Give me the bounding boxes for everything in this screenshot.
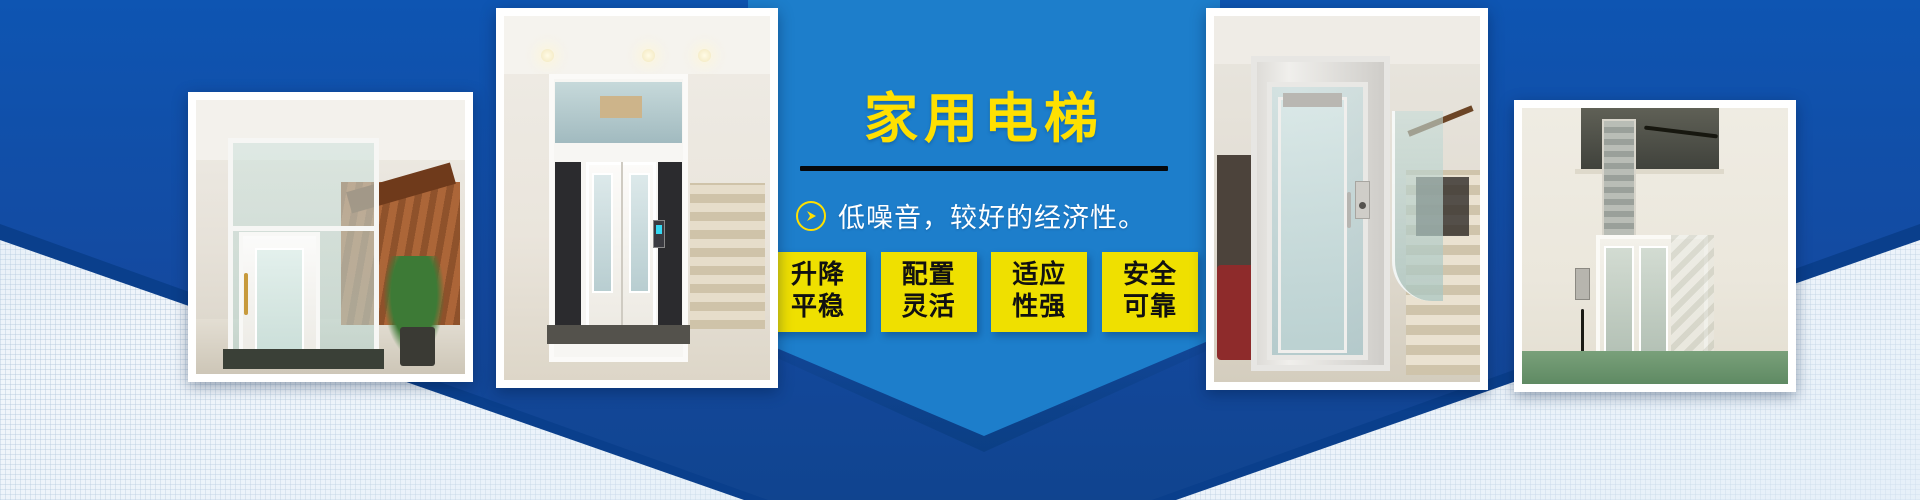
home-elevator-banner: 家用电梯 低噪音，较好的经济性。 升降 平稳 配置 灵活 适应 性强 bbox=[0, 0, 1920, 500]
badge-line-2: 性强 bbox=[1012, 292, 1066, 324]
scene-glass-home-elevator bbox=[196, 100, 465, 374]
badge-line-1: 升降 bbox=[791, 260, 845, 292]
feature-badge-list: 升降 平稳 配置 灵活 适应 性强 安全 可靠 bbox=[770, 252, 1198, 332]
circle-play-arrow-icon bbox=[796, 201, 826, 231]
photo-inner bbox=[1522, 108, 1788, 384]
photo-silver-elevator-with-glass-railing bbox=[1206, 8, 1488, 390]
feature-badge: 适应 性强 bbox=[991, 252, 1087, 332]
badge-line-1: 适应 bbox=[1012, 260, 1066, 292]
photo-inner bbox=[196, 100, 465, 374]
photo-white-sliding-door-elevator-with-stairs bbox=[496, 8, 778, 388]
title-divider bbox=[800, 166, 1168, 171]
subtitle-text: 低噪音，较好的经济性。 bbox=[838, 196, 1146, 235]
badge-line-1: 安全 bbox=[1123, 260, 1177, 292]
photo-elevator-under-installation bbox=[1514, 100, 1796, 392]
scene-silver-elevator bbox=[1214, 16, 1480, 382]
feature-badge: 升降 平稳 bbox=[770, 252, 866, 332]
subtitle-row: 低噪音，较好的经济性。 bbox=[796, 196, 1196, 235]
badge-line-2: 灵活 bbox=[902, 292, 956, 324]
photo-inner bbox=[1214, 16, 1480, 382]
feature-badge: 配置 灵活 bbox=[881, 252, 977, 332]
badge-line-2: 平稳 bbox=[791, 292, 845, 324]
photo-inner bbox=[504, 16, 770, 380]
page-title: 家用电梯 bbox=[754, 92, 1214, 146]
photo-glass-home-elevator-with-plant bbox=[188, 92, 473, 382]
badge-line-1: 配置 bbox=[902, 260, 956, 292]
scene-white-sliding-door-elevator bbox=[504, 16, 770, 380]
badge-line-2: 可靠 bbox=[1123, 292, 1177, 324]
feature-badge: 安全 可靠 bbox=[1102, 252, 1198, 332]
center-content: 家用电梯 低噪音，较好的经济性。 升降 平稳 配置 灵活 适应 性强 bbox=[754, 0, 1214, 420]
scene-elevator-installation bbox=[1522, 108, 1788, 384]
